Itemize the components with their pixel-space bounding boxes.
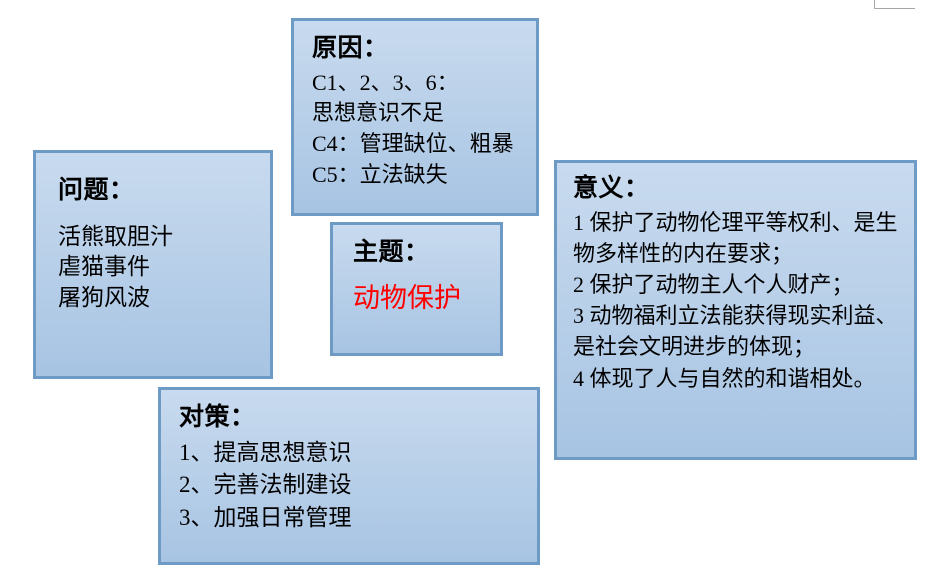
problem-box-line-2: 虐猫事件: [58, 252, 256, 283]
cause-box-line-1: C1、2、3、6：: [312, 68, 522, 99]
meaning-box-content: 意义： 1 保护了动物伦理平等权利、是生 物多样性的内在要求； 2 保护了动物主…: [557, 163, 914, 402]
problem-box-content: 问题： 活熊取胆汁 虐猫事件 屠狗风波: [36, 153, 270, 321]
cause-box-line-3: C4：管理缺位、粗暴: [312, 129, 522, 160]
meaning-box-line-2: 物多样性的内在要求；: [573, 238, 900, 269]
meaning-box-line-3: 2 保护了动物主人个人财产；: [573, 269, 900, 300]
countermeasure-box-line-2: 2、完善法制建设: [179, 469, 523, 502]
problem-box-line-3: 屠狗风波: [58, 283, 256, 314]
countermeasure-box-title: 对策：: [179, 402, 523, 435]
problem-box-line-1: 活熊取胆汁: [58, 222, 256, 253]
cause-box[interactable]: 原因： C1、2、3、6： 思想意识不足 C4：管理缺位、粗暴 C5：立法缺失: [291, 18, 539, 216]
problem-box-title: 问题：: [58, 175, 256, 208]
theme-box-keyword: 动物保护: [353, 282, 486, 314]
countermeasure-box-content: 对策： 1、提高思想意识 2、完善法制建设 3、加强日常管理: [161, 390, 537, 542]
theme-box[interactable]: 主题： 动物保护: [330, 222, 503, 356]
diagram-canvas: 问题： 活熊取胆汁 虐猫事件 屠狗风波 原因： C1、2、3、6： 思想意识不足…: [0, 0, 932, 569]
theme-box-content: 主题： 动物保护: [333, 225, 500, 322]
cause-box-title: 原因：: [312, 33, 522, 66]
meaning-box-line-1: 1 保护了动物伦理平等权利、是生: [573, 207, 900, 238]
meaning-box[interactable]: 意义： 1 保护了动物伦理平等权利、是生 物多样性的内在要求； 2 保护了动物主…: [554, 160, 917, 460]
countermeasure-box[interactable]: 对策： 1、提高思想意识 2、完善法制建设 3、加强日常管理: [158, 387, 540, 565]
meaning-box-line-6: 4 体现了人与自然的和谐相处。: [573, 363, 900, 394]
cause-box-line-2: 思想意识不足: [312, 98, 522, 129]
cause-box-line-4: C5：立法缺失: [312, 160, 522, 191]
meaning-box-line-5: 是社会文明进步的体现；: [573, 331, 900, 362]
cause-box-content: 原因： C1、2、3、6： 思想意识不足 C4：管理缺位、粗暴 C5：立法缺失: [294, 21, 536, 199]
meaning-box-line-4: 3 动物福利立法能获得现实利益、: [573, 300, 900, 331]
theme-box-title: 主题：: [353, 237, 486, 270]
countermeasure-box-line-3: 3、加强日常管理: [179, 502, 523, 535]
problem-box[interactable]: 问题： 活熊取胆汁 虐猫事件 屠狗风波: [33, 150, 273, 379]
meaning-box-title: 意义：: [573, 173, 900, 206]
countermeasure-box-line-1: 1、提高思想意识: [179, 437, 523, 470]
crop-mark-artifact: [874, 0, 915, 9]
